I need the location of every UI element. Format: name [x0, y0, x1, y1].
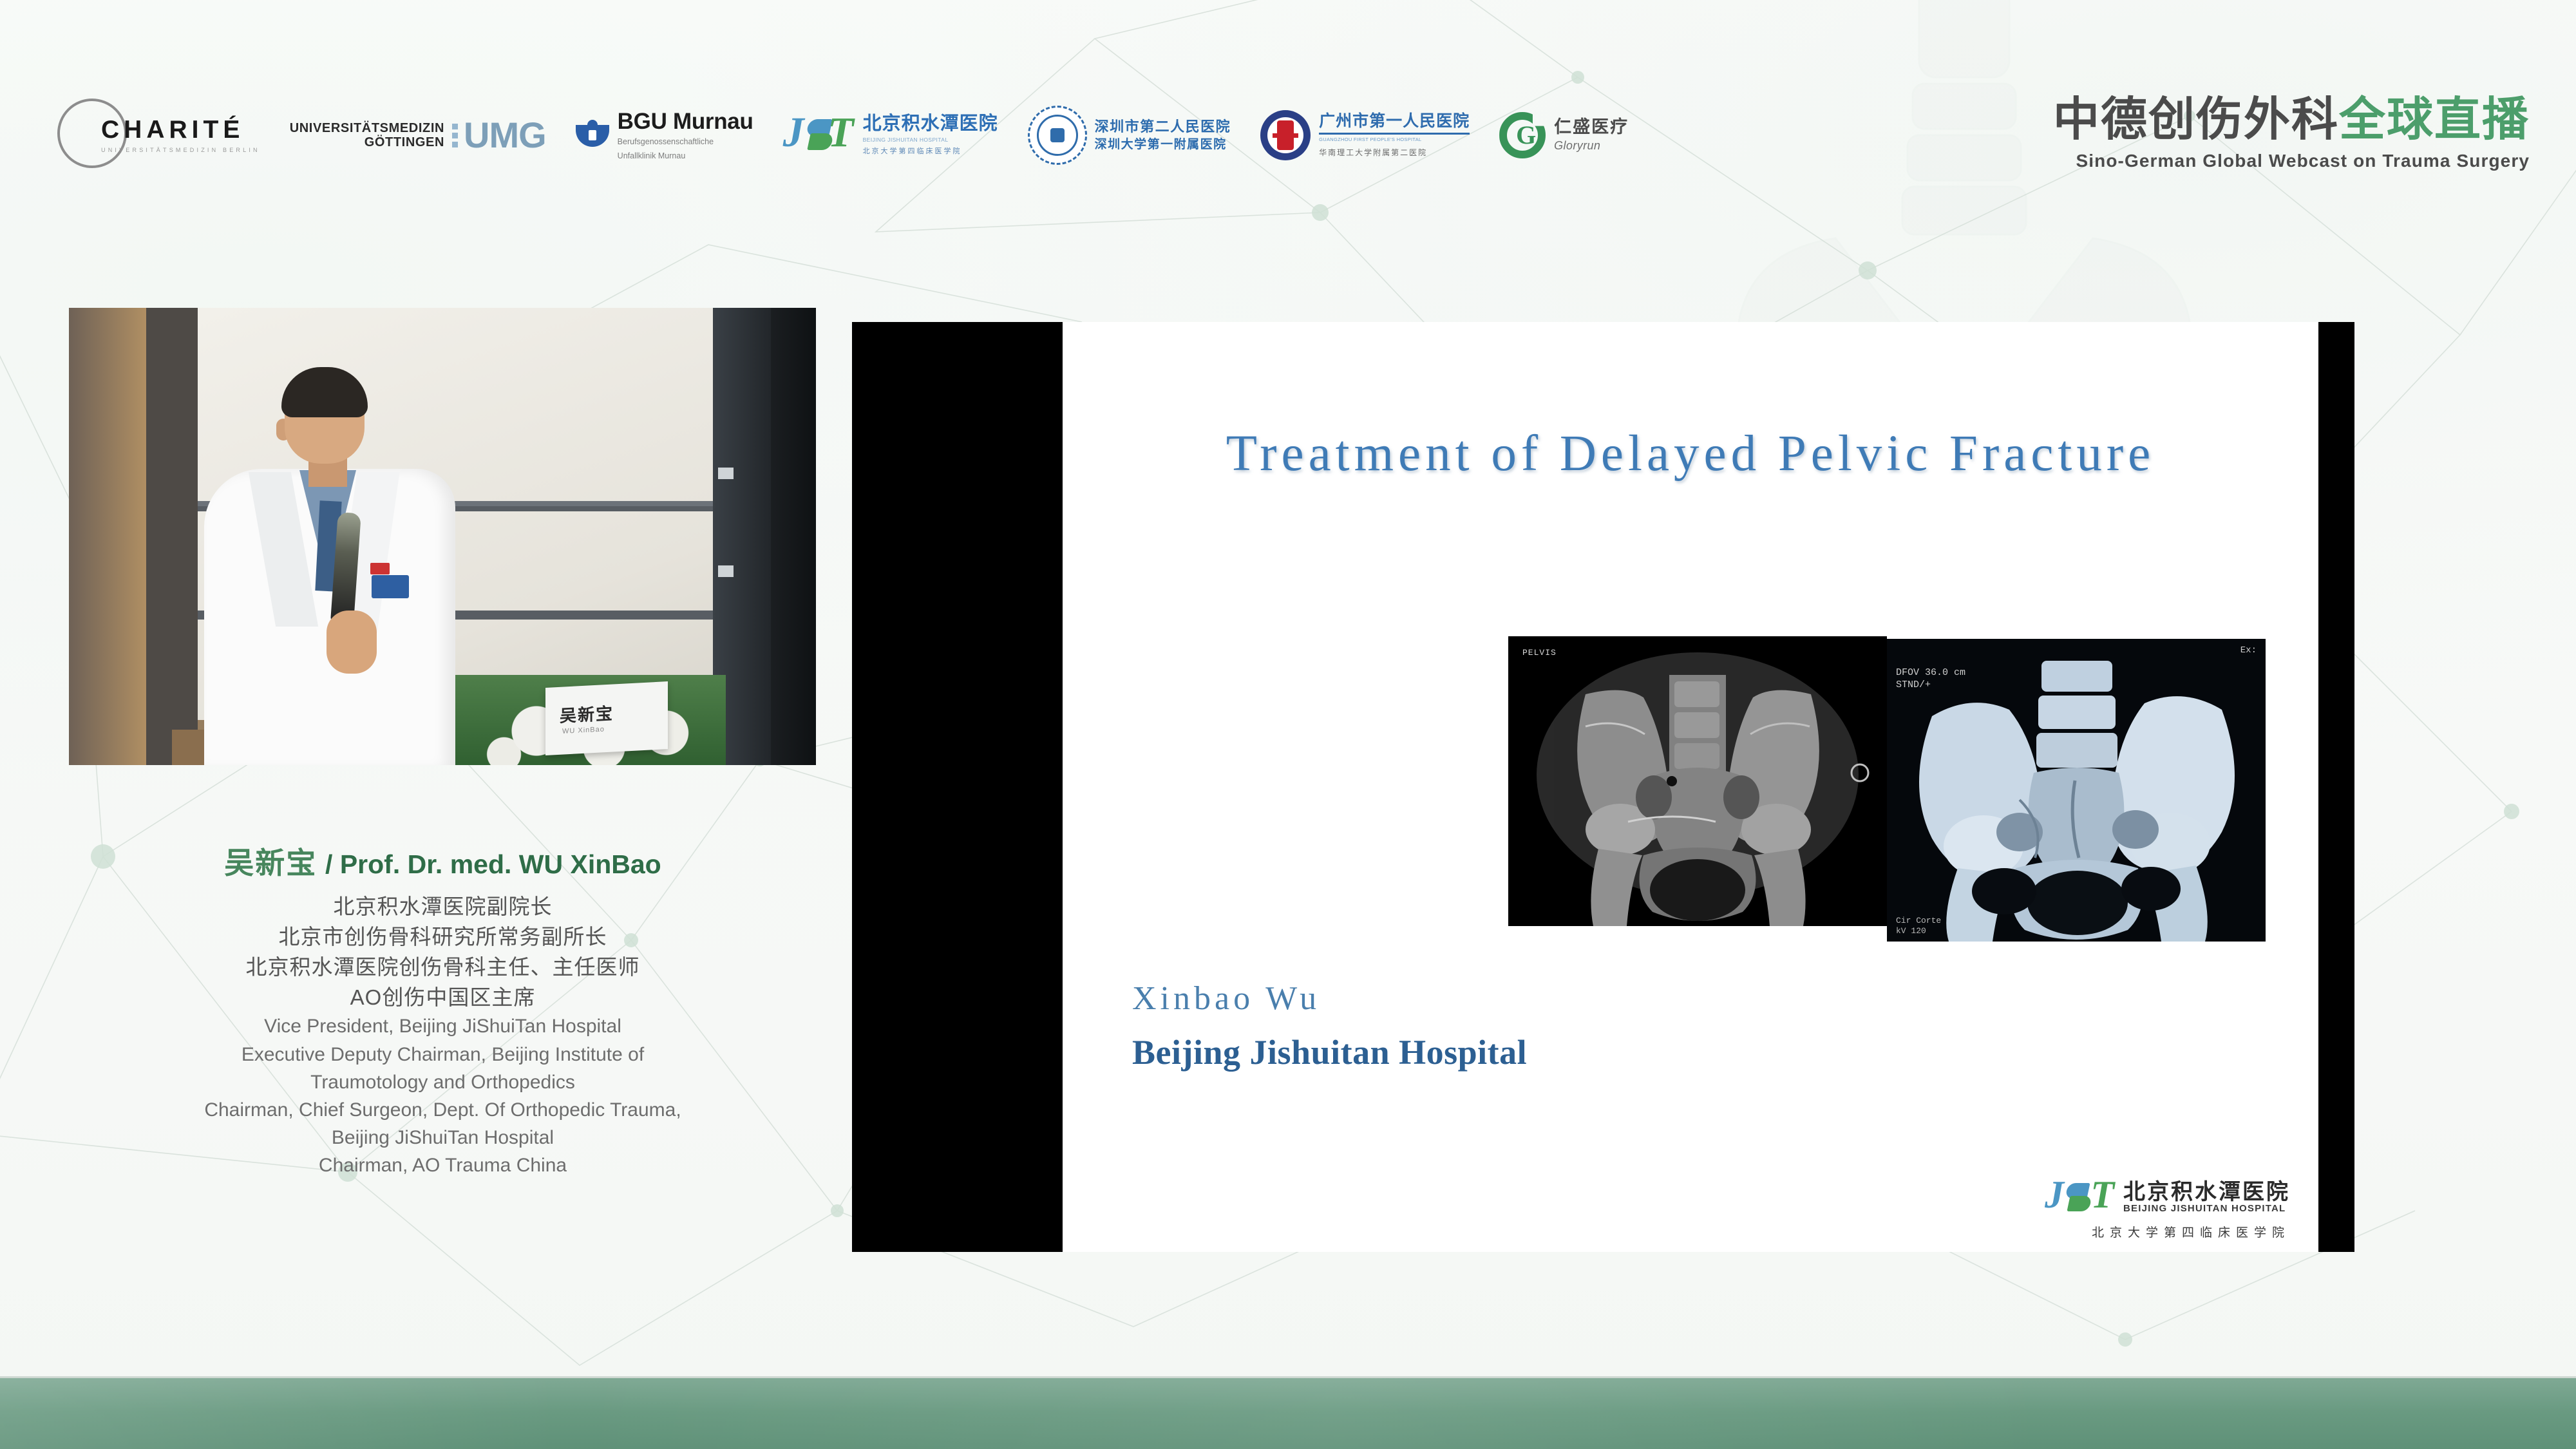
- charite-logo-subtext: UNIVERSITÄTSMEDIZIN BERLIN: [101, 147, 260, 153]
- shenzhen-line1: 深圳市第二人民医院: [1095, 117, 1231, 137]
- speaker-title-cn-2: 北京市创伤骨科研究所常务副所长: [64, 922, 821, 952]
- speaker-title-cn-4: AO创伤中国区主席: [64, 982, 821, 1012]
- shenzhen-line2: 深圳大学第一附属医院: [1095, 137, 1231, 153]
- gloryrun-logo: G 仁盛医疗 Gloryrun: [1499, 100, 1629, 171]
- pelvis-ap-xray: PELVIS: [1508, 636, 1887, 926]
- ct-overlay-bottom-label: Cir Corte kV 120: [1896, 916, 1941, 937]
- event-title-cn-green: 全球直播: [2339, 94, 2530, 146]
- presentation-slide: Treatment of Delayed Pelvic Fracture: [1063, 322, 2318, 1252]
- slide-logo-cn: 北京积水潭医院: [2123, 1180, 2290, 1204]
- umg-logo: UNIVERSITÄTSMEDIZIN GÖTTINGEN UMG: [290, 100, 546, 171]
- umg-abbr: UMG: [464, 120, 546, 151]
- charite-logo: CHARITÉ UNIVERSITÄTSMEDIZIN BERLIN: [61, 100, 260, 171]
- xray-overlay-label: PELVIS: [1522, 648, 1557, 658]
- slide-author-name: Xinbao Wu: [1132, 978, 1527, 1019]
- speaker-title-en-4: Chairman, Chief Surgeon, Dept. Of Orthop…: [64, 1096, 821, 1124]
- guangzhou-cn-sub: 华南理工大学附属第二医院: [1319, 147, 1470, 158]
- bgu-logo-text: BGU Murnau: [618, 110, 753, 133]
- slide-logo-cn2: 北京大学第四临床医学院: [2092, 1223, 2290, 1240]
- speaker-name-en: / Prof. Dr. med. WU XinBao: [325, 849, 661, 879]
- event-title-block: 中德创伤外科全球直播 Sino-German Global Webcast on…: [2053, 97, 2530, 171]
- jishuitan-cn-name: 北京积水潭医院: [863, 115, 998, 133]
- gloryrun-cn-name: 仁盛医疗: [1554, 118, 1629, 137]
- jishuitan-logo: J T 北京积水潭医院 BEIJING JISHUITAN HOSPITAL 北…: [783, 100, 998, 171]
- guangzhou-divider: [1319, 133, 1470, 135]
- jst-monogram-icon-slide: J T: [2045, 1178, 2114, 1218]
- presentation-slide-viewport[interactable]: Treatment of Delayed Pelvic Fracture: [852, 322, 2354, 1252]
- jst-monogram-icon: J T: [783, 114, 854, 156]
- footer-sheen: [0, 1378, 2576, 1449]
- event-title-cn-dark: 中德创伤外科: [2053, 94, 2339, 146]
- speaker-title-cn-1: 北京积水潭医院副院长: [64, 891, 821, 922]
- speaker-name-cn: 吴新宝: [224, 846, 317, 880]
- bgu-emblem-icon: [576, 120, 609, 151]
- slide-hospital-logo: J T 北京积水潭医院 BEIJING JISHUITAN HOSPITAL 北…: [2045, 1178, 2290, 1240]
- jishuitan-cn-sub: 北京大学第四临床医学院: [863, 146, 998, 156]
- jishuitan-en-name: BEIJING JISHUITAN HOSPITAL: [863, 137, 998, 144]
- pelvis-3d-ct-reconstruction: DFOV 36.0 cm STND/+ Ex: Cir Corte kV 120: [1887, 639, 2266, 942]
- jst-j-glyph-slide: J: [2045, 1175, 2064, 1214]
- slide-image-row: PELVIS: [1508, 636, 2266, 939]
- charite-logo-text: CHARITÉ: [101, 117, 260, 142]
- jst-t-glyph: T: [828, 111, 853, 154]
- bgu-logo-sub2: Unfallklinik Murnau: [618, 151, 753, 161]
- event-title-en: Sino-German Global Webcast on Trauma Sur…: [2053, 151, 2530, 171]
- ct-overlay-corner-label: Ex:: [2240, 645, 2257, 656]
- shenzhen-seal-icon: [1028, 106, 1087, 165]
- speaker-title-en-2: Executive Deputy Chairman, Beijing Insti…: [64, 1041, 821, 1068]
- webcast-screen: CHARITÉ UNIVERSITÄTSMEDIZIN BERLIN UNIVE…: [0, 0, 2576, 1449]
- speaker-title-cn-3: 北京积水潭医院创伤骨科主任、主任医师: [64, 952, 821, 982]
- slide-author-block: Xinbao Wu Beijing Jishuitan Hospital: [1132, 978, 1527, 1075]
- speaker-title-en-3: Traumotology and Orthopedics: [64, 1068, 821, 1096]
- speaker-info-panel: 吴新宝 / Prof. Dr. med. WU XinBao 北京积水潭医院副院…: [64, 847, 821, 1179]
- slide-affiliation: Beijing Jishuitan Hospital: [1132, 1030, 1527, 1075]
- shenzhen-hospital-logo: 深圳市第二人民医院 深圳大学第一附属医院: [1028, 100, 1231, 171]
- speaker-video-feed[interactable]: 吴新宝 WU XinBao: [69, 308, 816, 765]
- event-title-cn: 中德创伤外科全球直播: [2053, 97, 2530, 143]
- slide-logo-en: BEIJING JISHUITAN HOSPITAL: [2123, 1203, 2286, 1214]
- guangzhou-seal-icon: [1260, 110, 1311, 160]
- page-header: CHARITÉ UNIVERSITÄTSMEDIZIN BERLIN UNIVE…: [0, 0, 2576, 213]
- jst-j-glyph: J: [783, 111, 804, 154]
- gloryrun-en-name: Gloryrun: [1554, 139, 1629, 153]
- speaker-title-en-1: Vice President, Beijing JiShuiTan Hospit…: [64, 1012, 821, 1040]
- jst-t-glyph-slide: T: [2090, 1175, 2114, 1214]
- pelvis-xray-graphic: [1508, 636, 1887, 926]
- bgu-murnau-logo: BGU Murnau Berufsgenossenschaftliche Unf…: [576, 100, 753, 171]
- speaker-title-en-5: Beijing JiShuiTan Hospital: [64, 1124, 821, 1151]
- partner-logo-row: CHARITÉ UNIVERSITÄTSMEDIZIN BERLIN UNIVE…: [61, 97, 1658, 174]
- footer-bar: [0, 1376, 2576, 1449]
- umg-line2: GÖTTINGEN: [290, 135, 444, 149]
- speaker-title-en-6: Chairman, AO Trauma China: [64, 1151, 821, 1179]
- guangzhou-en-name: GUANGZHOU FIRST PEOPLE'S HOSPITAL: [1319, 137, 1470, 142]
- bgu-logo-sub1: Berufsgenossenschaftliche: [618, 137, 753, 147]
- gloryrun-swirl-icon: G: [1499, 112, 1546, 158]
- umg-bars-icon: [452, 124, 458, 147]
- guangzhou-cn-name: 广州市第一人民医院: [1319, 113, 1470, 131]
- speaker-name-line: 吴新宝 / Prof. Dr. med. WU XinBao: [64, 847, 821, 880]
- slide-title: Treatment of Delayed Pelvic Fracture: [1063, 425, 2318, 483]
- guangzhou-first-hospital-logo: 广州市第一人民医院 GUANGZHOU FIRST PEOPLE'S HOSPI…: [1260, 100, 1470, 171]
- ct-overlay-label: DFOV 36.0 cm STND/+: [1896, 667, 1965, 692]
- umg-line1: UNIVERSITÄTSMEDIZIN: [290, 121, 444, 135]
